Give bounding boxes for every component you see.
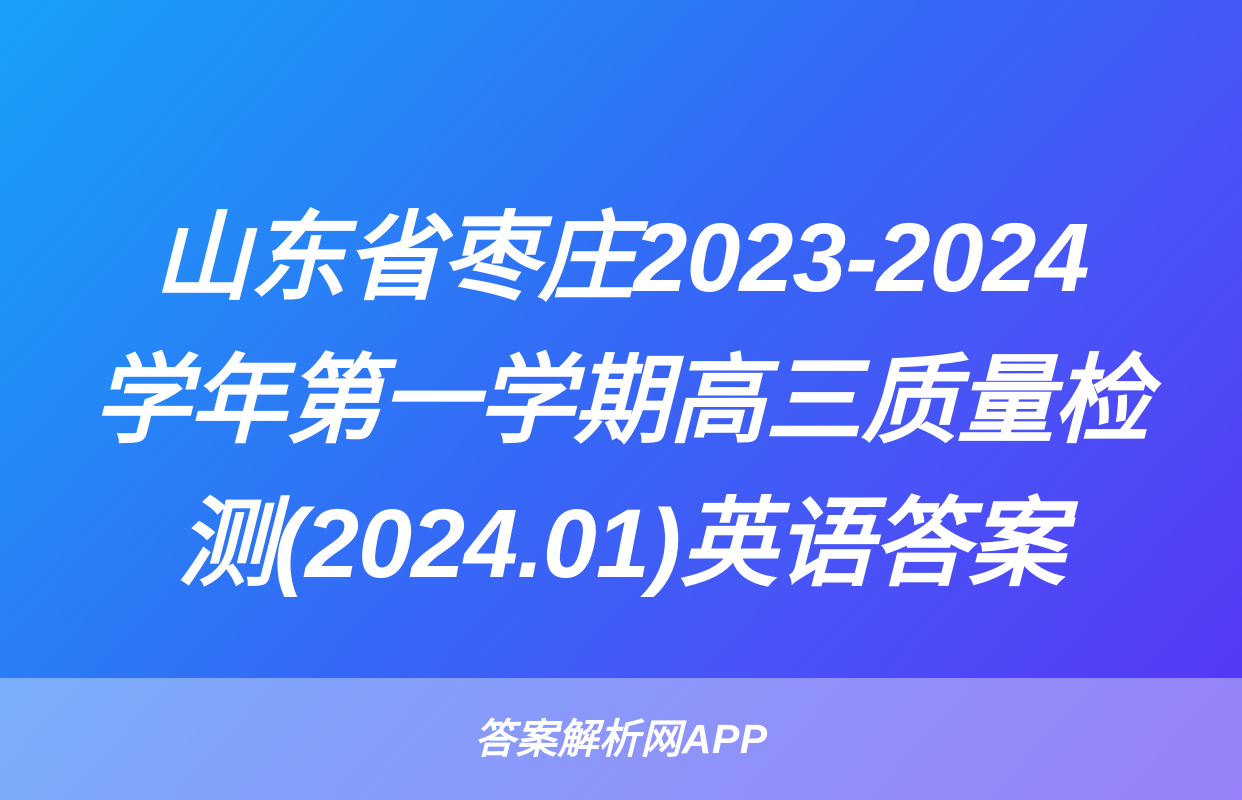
footer-watermark-band: 答案解析网APP <box>0 678 1242 800</box>
promo-banner: 山东省枣庄2023-2024 学年第一学期高三质量检 测(2024.01)英语答… <box>0 0 1242 800</box>
page-title: 山东省枣庄2023-2024 学年第一学期高三质量检 测(2024.01)英语答… <box>0 186 1242 615</box>
title-line-3: 测(2024.01)英语答案 <box>70 472 1172 615</box>
title-line-1: 山东省枣庄2023-2024 <box>70 186 1172 329</box>
app-watermark-label: 答案解析网APP <box>474 719 767 760</box>
title-line-2: 学年第一学期高三质量检 <box>70 329 1172 472</box>
